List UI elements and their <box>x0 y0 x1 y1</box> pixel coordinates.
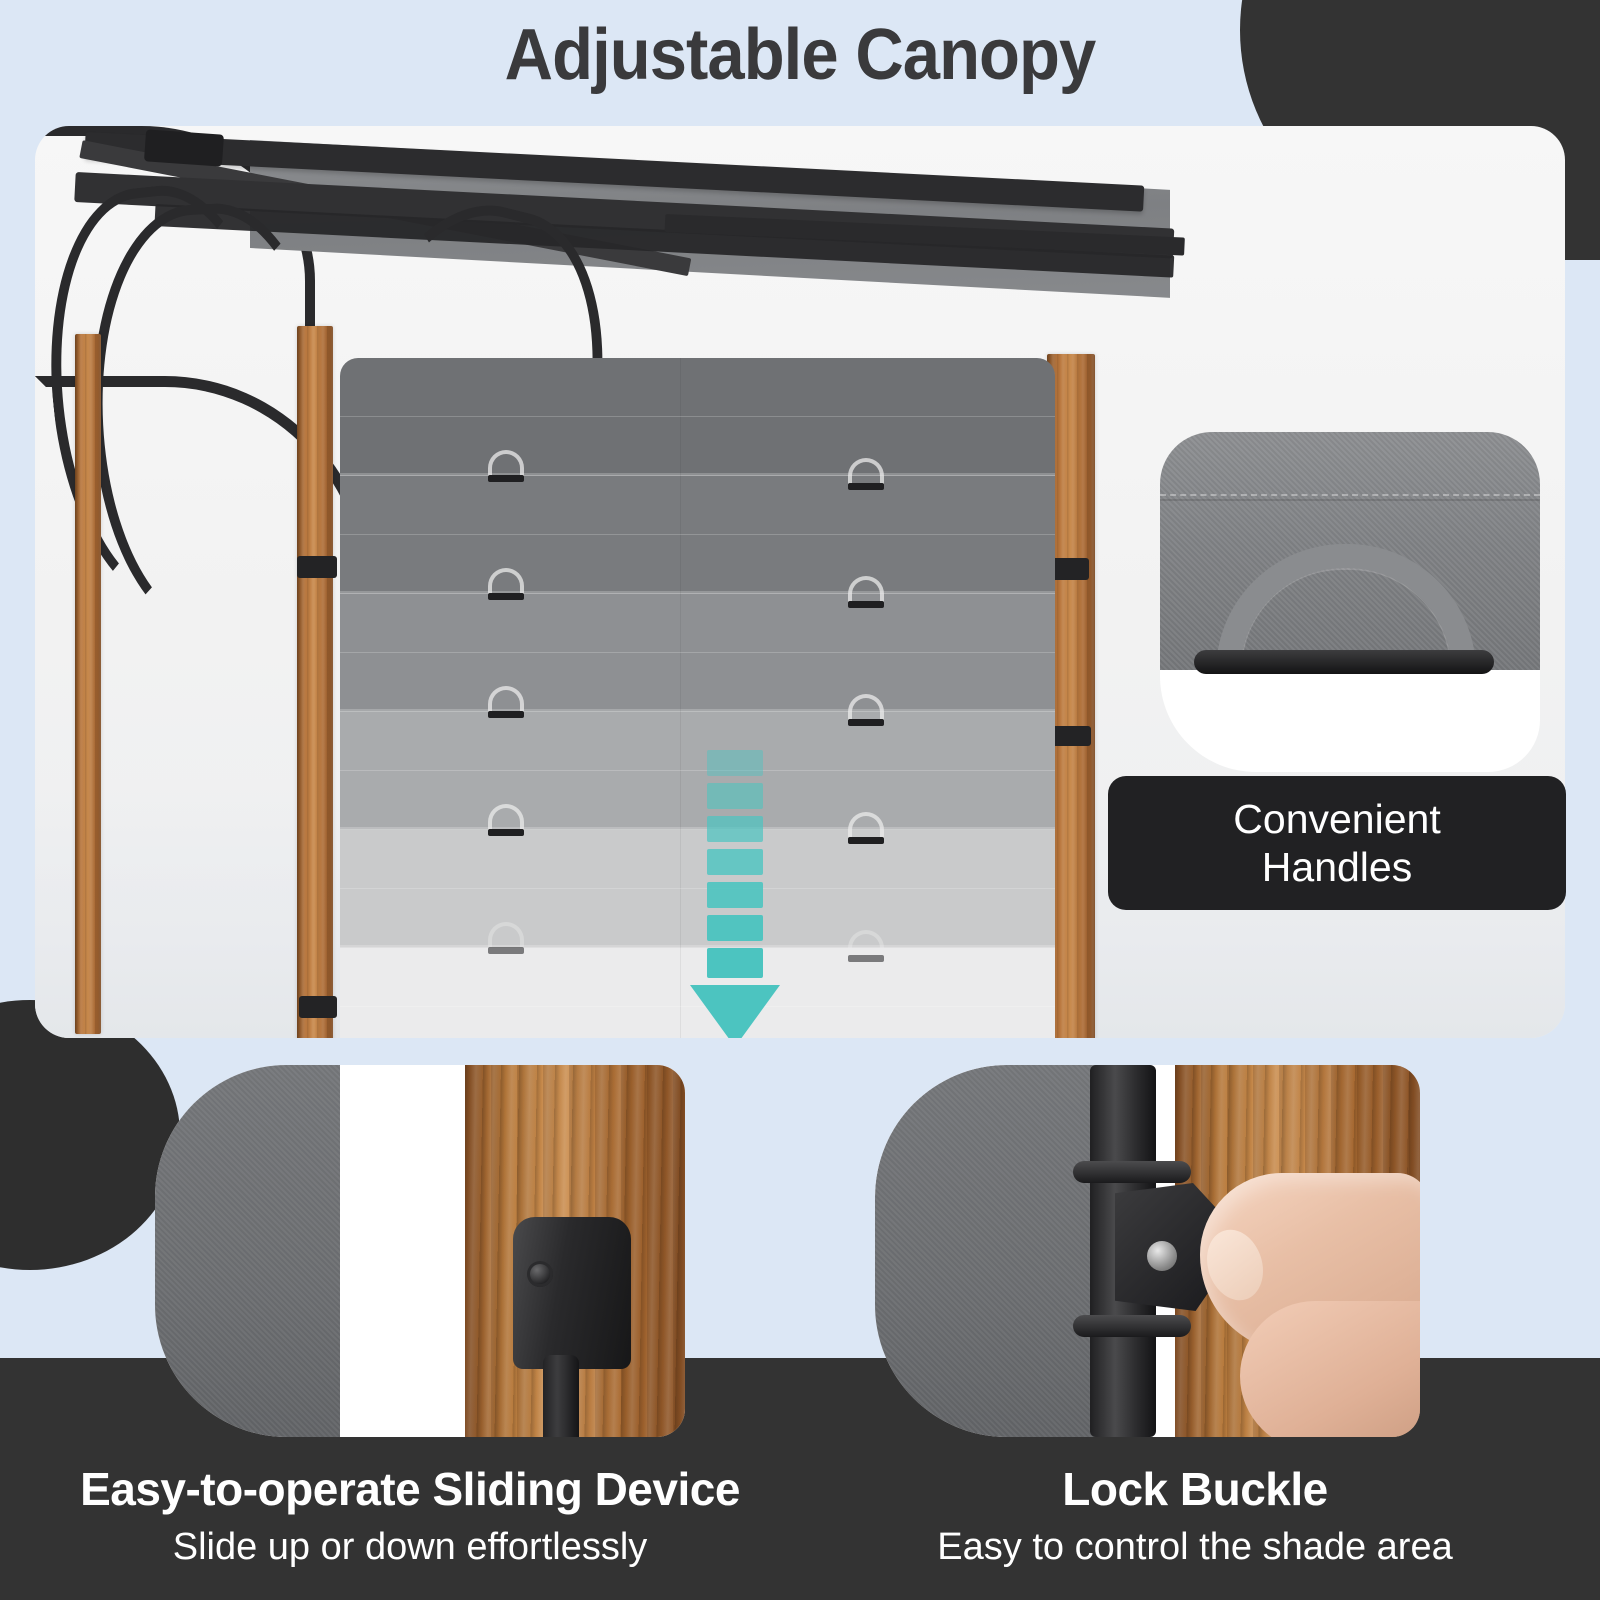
lock-buckle-card <box>875 1065 1420 1437</box>
canopy-seam <box>340 888 1055 889</box>
fingernail <box>1198 1222 1272 1307</box>
post-joint-left-upper <box>297 556 337 578</box>
pole-ring-upper <box>1073 1161 1191 1183</box>
lock-buckle-subheading: Easy to control the shade area <box>800 1526 1590 1569</box>
canopy-band <box>340 830 1055 948</box>
canopy-band <box>340 476 1055 594</box>
bracket-screw-icon <box>527 1261 553 1287</box>
canopy-seam <box>340 770 1055 771</box>
sliding-device-caption: Easy-to-operate Sliding Device Slide up … <box>10 1462 810 1569</box>
sliding-device-heading: Easy-to-operate Sliding Device <box>10 1462 810 1516</box>
arrow-segment <box>707 849 763 875</box>
pole-ring-lower <box>1073 1315 1191 1337</box>
canopy-band <box>340 358 1055 476</box>
canopy-vertical-seam <box>680 358 681 1038</box>
buckle-screw-icon <box>1147 1241 1177 1271</box>
lock-buckle-caption: Lock Buckle Easy to control the shade ar… <box>800 1462 1590 1569</box>
handle-rod <box>1194 650 1494 674</box>
sliding-bracket-icon <box>513 1217 631 1369</box>
canopy-seam <box>340 652 1055 653</box>
arrow-segment <box>707 816 763 842</box>
convenient-handles-label-line2: Handles <box>1262 844 1412 890</box>
wood-post-far-left <box>75 334 101 1034</box>
arrow-segment <box>707 915 763 941</box>
card-fabric-panel <box>155 1065 340 1437</box>
roof-beam-cap <box>144 129 224 166</box>
convenient-handles-inset-image <box>1160 432 1540 772</box>
canopy-seam <box>340 534 1055 535</box>
canopy-band <box>340 712 1055 830</box>
infographic-stage: Adjustable Canopy <box>0 0 1600 1600</box>
sliding-device-card <box>155 1065 685 1437</box>
canopy-band <box>340 594 1055 712</box>
hand-thumb <box>1240 1301 1420 1437</box>
post-joint-left-lower <box>299 996 337 1018</box>
convenient-handles-label-line1: Convenient <box>1233 796 1440 842</box>
canopy-seam <box>340 416 1055 417</box>
bracket-rod <box>543 1355 579 1437</box>
arrow-head-icon <box>690 985 780 1038</box>
card-fabric-panel <box>875 1065 1125 1437</box>
convenient-handles-label: Convenient Handles <box>1233 795 1440 892</box>
corner-blob-left-icon <box>0 1000 180 1270</box>
convenient-handles-banner: Convenient Handles <box>1108 776 1566 910</box>
lock-buckle-heading: Lock Buckle <box>800 1462 1590 1516</box>
arrow-segment <box>707 783 763 809</box>
wood-post-left <box>297 326 333 1038</box>
arrow-segment <box>707 948 763 978</box>
page-title: Adjustable Canopy <box>56 14 1544 96</box>
inset-stitch-line <box>1160 494 1540 501</box>
slide-down-arrow-icon <box>707 750 763 1038</box>
arrow-segment <box>707 882 763 908</box>
canopy-fabric-stack <box>340 358 1055 1038</box>
sliding-device-subheading: Slide up or down effortlessly <box>10 1526 810 1569</box>
arrow-segment <box>707 750 763 776</box>
